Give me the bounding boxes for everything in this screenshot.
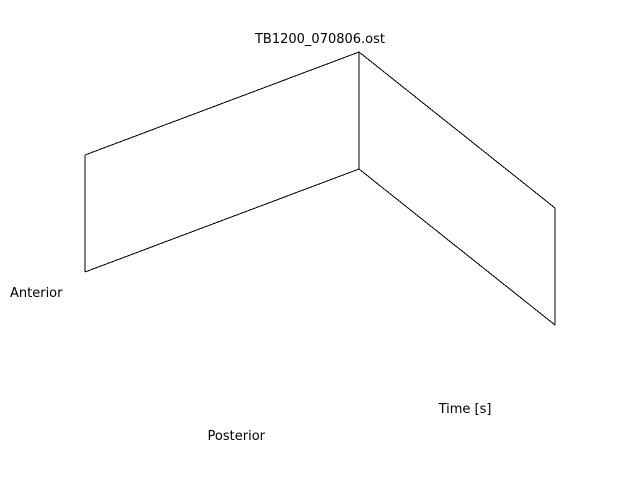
surface-plot-3d[interactable]: TB1200_070806.ost Time [s] Anterior Post… <box>0 0 640 480</box>
y-axis-label-posterior: Posterior <box>208 429 266 444</box>
plot-title: TB1200_070806.ost <box>254 32 385 47</box>
x-axis-label: Time [s] <box>438 402 492 417</box>
axis-box-frame <box>85 52 555 325</box>
figure-canvas: TB1200_070806.ost Time [s] Anterior Post… <box>0 0 640 480</box>
y-axis-label-anterior: Anterior <box>10 286 63 301</box>
